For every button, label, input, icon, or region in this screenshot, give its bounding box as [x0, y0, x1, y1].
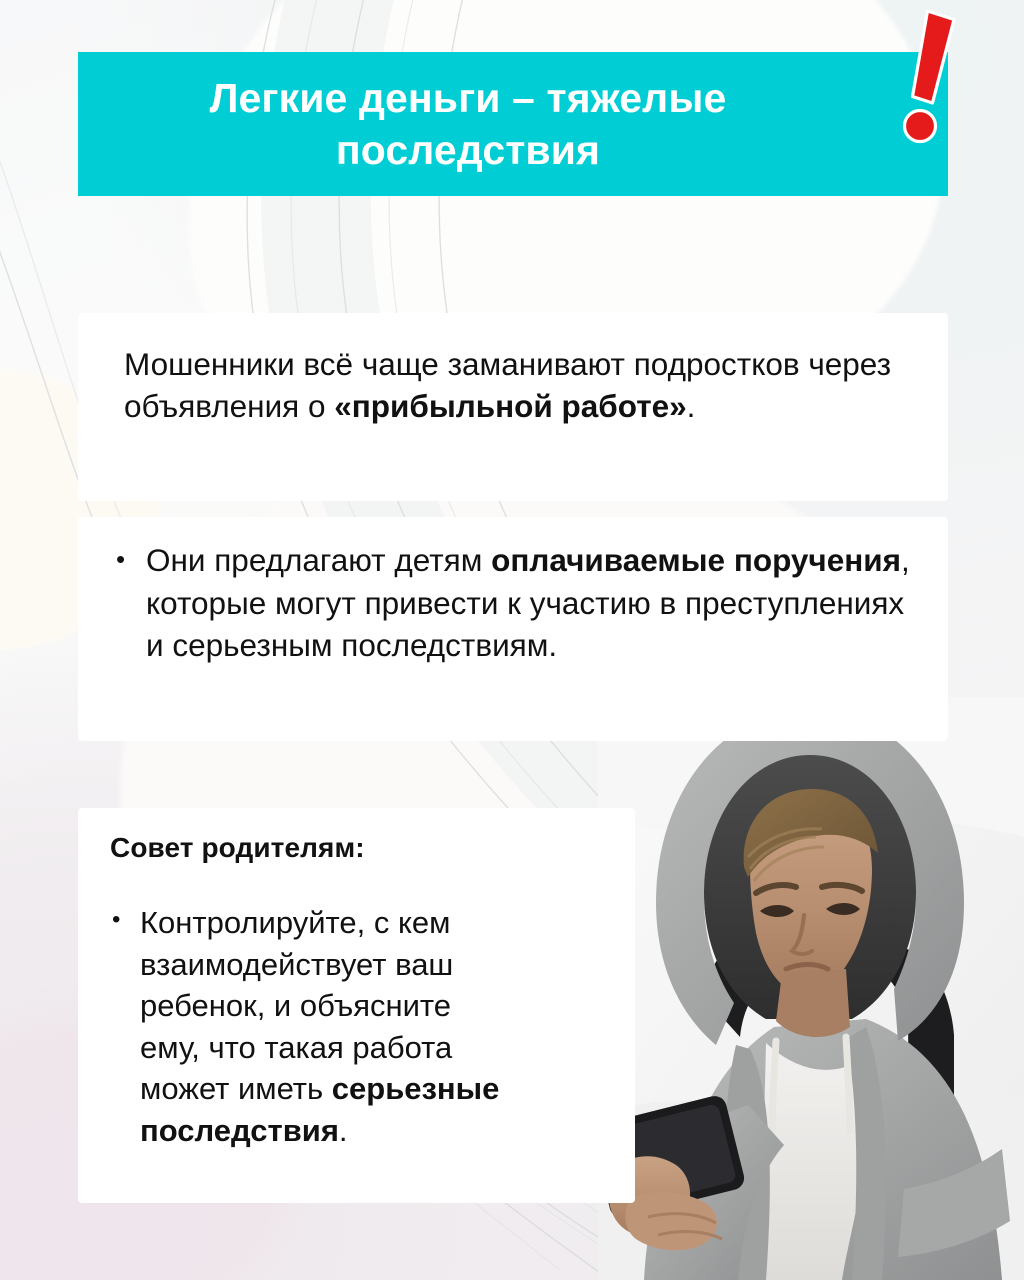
bullet-icon: •: [108, 902, 140, 938]
advice-card-text: Контролируйте, с кем взаимодействует ваш…: [140, 902, 617, 1151]
advice-line-6-text: .: [339, 1113, 348, 1148]
advice-line-3: ребенок, и объясните: [140, 985, 617, 1027]
page-title-line-1: Легкие деньги – тяжелые: [210, 75, 727, 121]
advice-line-1: Контролируйте, с кем: [140, 902, 617, 944]
advice-line-3-text: ребенок, и объясните: [140, 988, 451, 1023]
advice-line-2: взаимодействует ваш: [140, 944, 617, 986]
advice-line-5: может иметь серьезные: [140, 1068, 617, 1110]
risk-card-text: Они предлагают детям оплачиваемые поруче…: [146, 539, 914, 667]
risk-text-part-1: Они предлагают детям: [146, 542, 491, 578]
advice-line-5-text: может иметь: [140, 1071, 332, 1106]
advice-line-4-text: ему, что такая работа: [140, 1030, 452, 1065]
teenager-with-phone-photo: [598, 697, 1024, 1280]
risk-card: • Они предлагают детям оплачиваемые пору…: [78, 517, 948, 741]
page-title: Легкие деньги – тяжелые последствия: [180, 72, 847, 177]
page-title-line-2: последствия: [336, 127, 600, 173]
risk-text-bold: оплачиваемые поручения: [491, 542, 901, 578]
advice-card-bullet-row: • Контролируйте, с кем взаимодействует в…: [108, 902, 617, 1151]
advice-line-6-bold: последствия: [140, 1113, 339, 1148]
advice-line-2-text: взаимодействует ваш: [140, 947, 453, 982]
intro-text-part-2: .: [687, 388, 696, 424]
advice-line-6: последствия.: [140, 1110, 617, 1152]
advice-line-1-text: Контролируйте, с кем: [140, 905, 450, 940]
advice-card-heading: Совет родителям:: [110, 832, 617, 864]
advice-line-5-bold: серьезные: [332, 1071, 500, 1106]
intro-card: Мошенники всё чаще заманивают подростков…: [78, 313, 948, 501]
intro-card-text: Мошенники всё чаще заманивают подростков…: [124, 343, 906, 427]
advice-card: Совет родителям: • Контролируйте, с кем …: [78, 808, 635, 1203]
advice-line-4: ему, что такая работа: [140, 1027, 617, 1069]
exclamation-mark-icon: [893, 8, 963, 148]
risk-card-bullet-row: • Они предлагают детям оплачиваемые пору…: [112, 539, 914, 667]
bullet-icon: •: [112, 539, 146, 579]
header-banner: Легкие деньги – тяжелые последствия: [78, 52, 948, 196]
intro-text-bold: «прибыльной работе»: [334, 388, 686, 424]
poster-canvas: Легкие деньги – тяжелые последствия: [0, 0, 1024, 1280]
